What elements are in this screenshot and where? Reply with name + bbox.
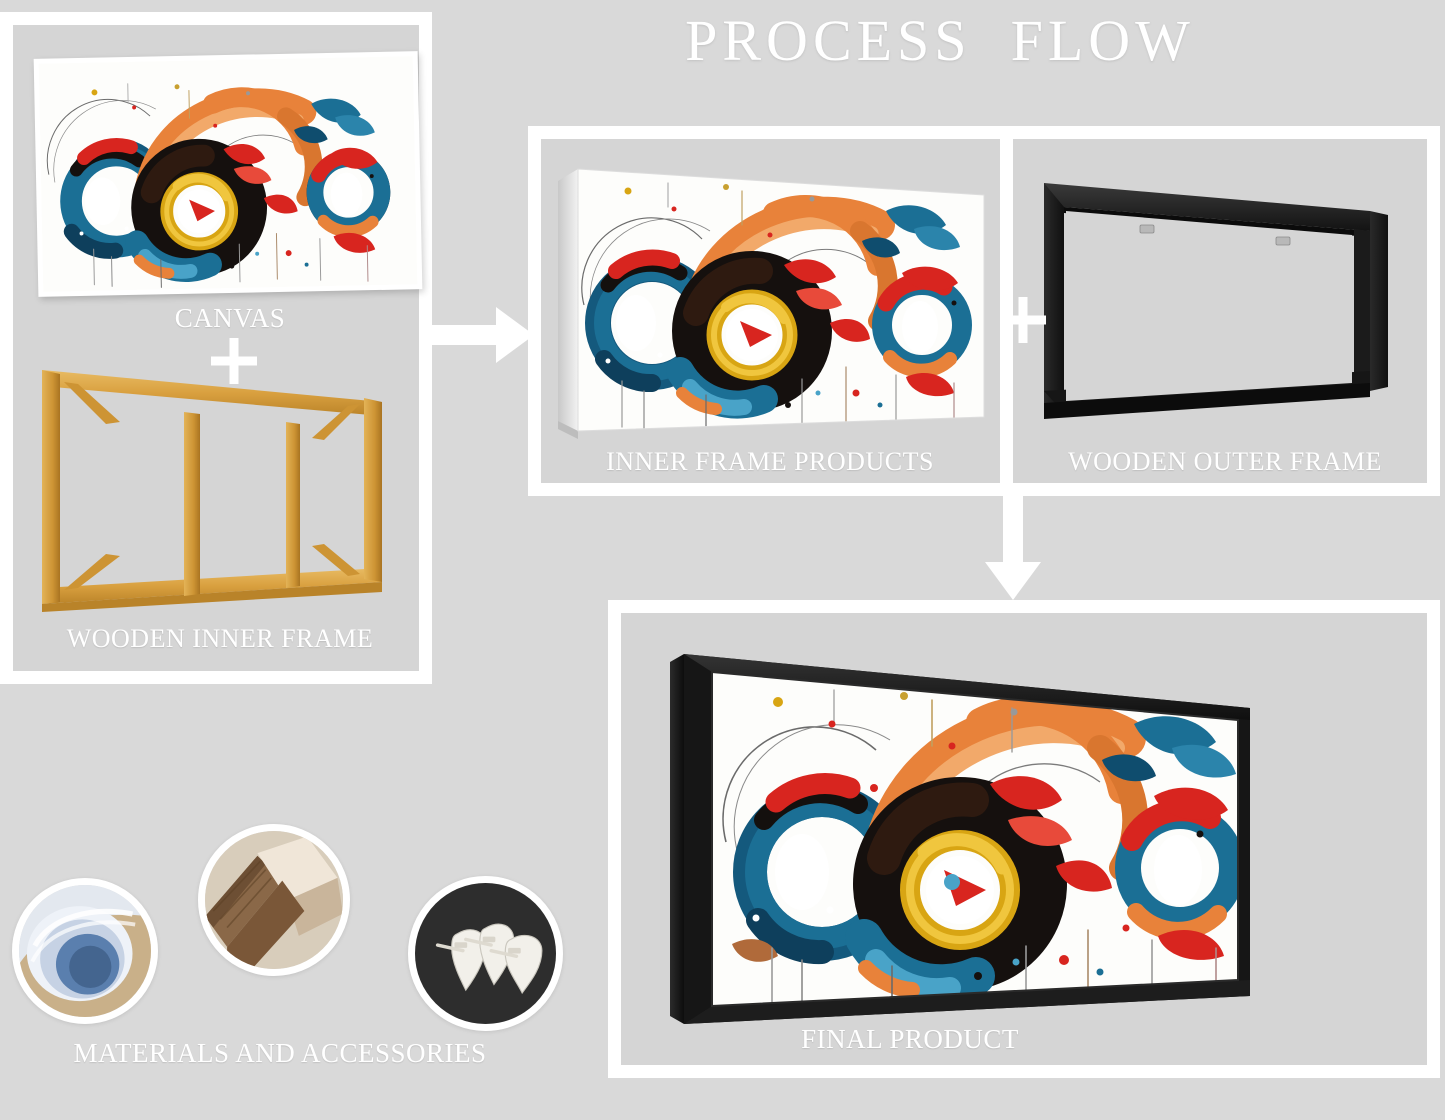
arrow-right-icon [424, 307, 534, 363]
caption-canvas: CANVAS [40, 303, 420, 334]
accessory-plastic-wrap-roll [12, 878, 158, 1024]
wooden-inner-frame [38, 360, 390, 612]
plus-icon-canvas-frame [211, 338, 257, 384]
caption-wooden-inner-frame: WOODEN INNER FRAME [20, 624, 420, 654]
final-product-framed-canvas [660, 628, 1250, 1028]
canvas-print-flat [34, 51, 423, 297]
wooden-outer-frame-product [1040, 175, 1392, 423]
caption-inner-frame-products: INNER FRAME PRODUCTS [560, 447, 980, 477]
arrow-down-icon [985, 496, 1041, 600]
caption-materials-and-accessories: MATERIALS AND ACCESSORIES [10, 1038, 550, 1069]
accessory-wall-hanging-hooks [408, 876, 563, 1031]
stretched-canvas-product [556, 155, 986, 445]
page-title: PROCESS FLOW [600, 8, 1280, 75]
plus-icon-frames [1000, 297, 1046, 343]
accessory-wooden-corner-protector [198, 824, 350, 976]
caption-wooden-outer-frame: WOODEN OUTER FRAME [1020, 447, 1430, 477]
caption-final-product: FINAL PRODUCT [700, 1024, 1120, 1055]
artwork-canvas-flat [39, 56, 418, 291]
